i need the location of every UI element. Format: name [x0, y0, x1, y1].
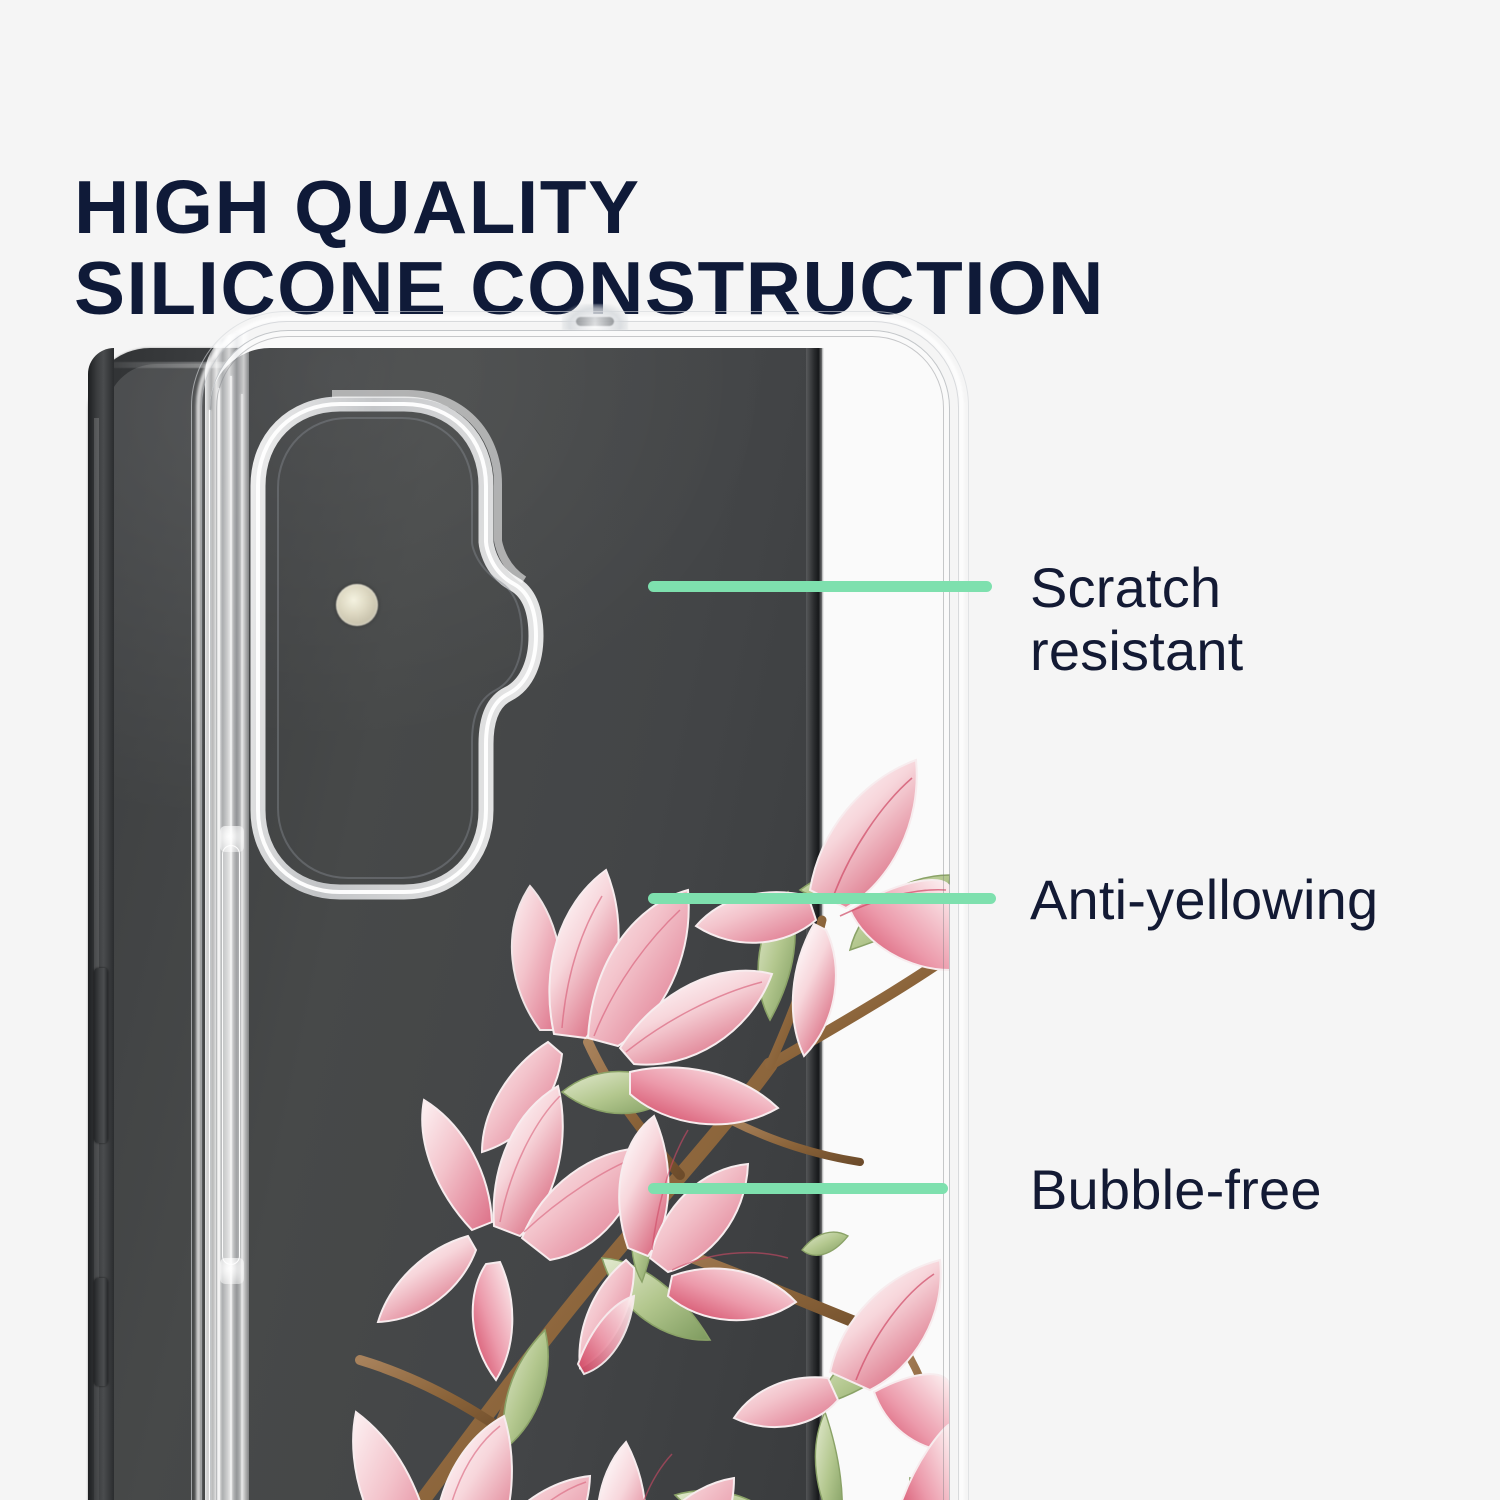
volume-button[interactable]	[94, 968, 108, 1143]
case-button-notch-top	[220, 826, 244, 852]
case-button-notch-bottom	[220, 1258, 244, 1284]
case-button-cutout	[222, 845, 240, 1265]
phone-case	[210, 330, 950, 1500]
callout-anti-yellowing: Anti-yellowing	[1030, 868, 1500, 931]
leader-line-scratch-resistant	[648, 581, 992, 592]
camera-cutout-bezel	[236, 392, 544, 912]
camera-flash-led	[336, 584, 378, 626]
callout-bubble-free: Bubble-free	[1030, 1158, 1460, 1221]
callout-scratch-resistant: Scratch resistant	[1030, 556, 1430, 682]
leader-line-anti-yellowing	[648, 893, 996, 904]
leader-line-bubble-free	[648, 1183, 948, 1194]
product-scene	[0, 0, 1500, 1500]
case-body	[210, 330, 950, 1500]
product-feature-graphic: HIGH QUALITY SILICONE CONSTRUCTION	[0, 0, 1500, 1500]
case-top-mic-cutout	[562, 304, 628, 330]
power-button[interactable]	[94, 1278, 108, 1386]
